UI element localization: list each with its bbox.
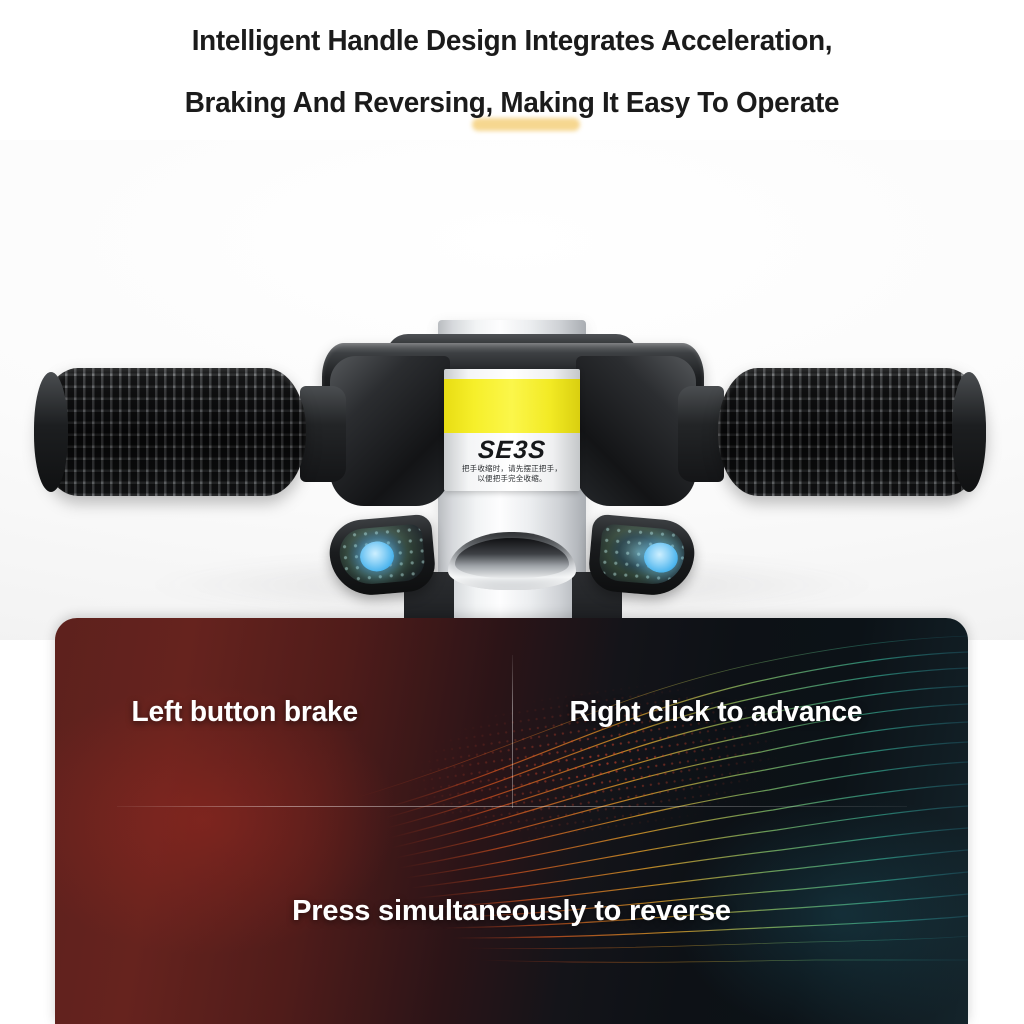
headline-line-2: Braking And Reversing, Making It Easy To… [20,72,1003,134]
right-thumb-throttle-lever [587,514,697,599]
right-lever-face [598,523,687,586]
callout-right-click-advance: Right click to advance [570,696,863,729]
handlebar-brand-label: SE3S 把手收缩时，请先摆正把手， 以便把手完全收缩。 [444,369,580,491]
left-grip-end-cap [34,372,68,492]
left-thumb-throttle-lever [327,514,437,599]
label-yellow-band [444,379,580,433]
left-lever-face [338,523,427,586]
product-photo-stage: SE3S 把手收缩时，请先摆正把手， 以便把手完全收缩。 [0,140,1024,640]
panel-vertical-divider [512,655,513,808]
control-instructions-panel: Left button brake Right click to advance… [55,618,968,1024]
brand-name: SE3S [444,436,580,465]
left-grip-neck [300,386,346,482]
label-warning-line-1: 把手收缩时，请先摆正把手， [444,464,580,474]
label-warning-line-2: 以便把手完全收缩。 [444,474,580,484]
panel-horizontal-divider [117,806,907,807]
right-handlebar-grip [718,368,986,496]
callout-left-button-brake: Left button brake [132,696,358,729]
left-handlebar-grip [38,368,306,496]
right-grip-end-cap [952,372,986,492]
product-feature-image: Intelligent Handle Design Integrates Acc… [0,0,1024,1024]
callout-press-to-reverse: Press simultaneously to reverse [55,895,968,928]
handlebar-clamp-left [330,356,450,506]
label-warning-text: 把手收缩时，请先摆正把手， 以便把手完全收缩。 [444,464,580,484]
headline-line-1: Intelligent Handle Design Integrates Acc… [20,10,1003,72]
headline-block: Intelligent Handle Design Integrates Acc… [0,10,1024,134]
